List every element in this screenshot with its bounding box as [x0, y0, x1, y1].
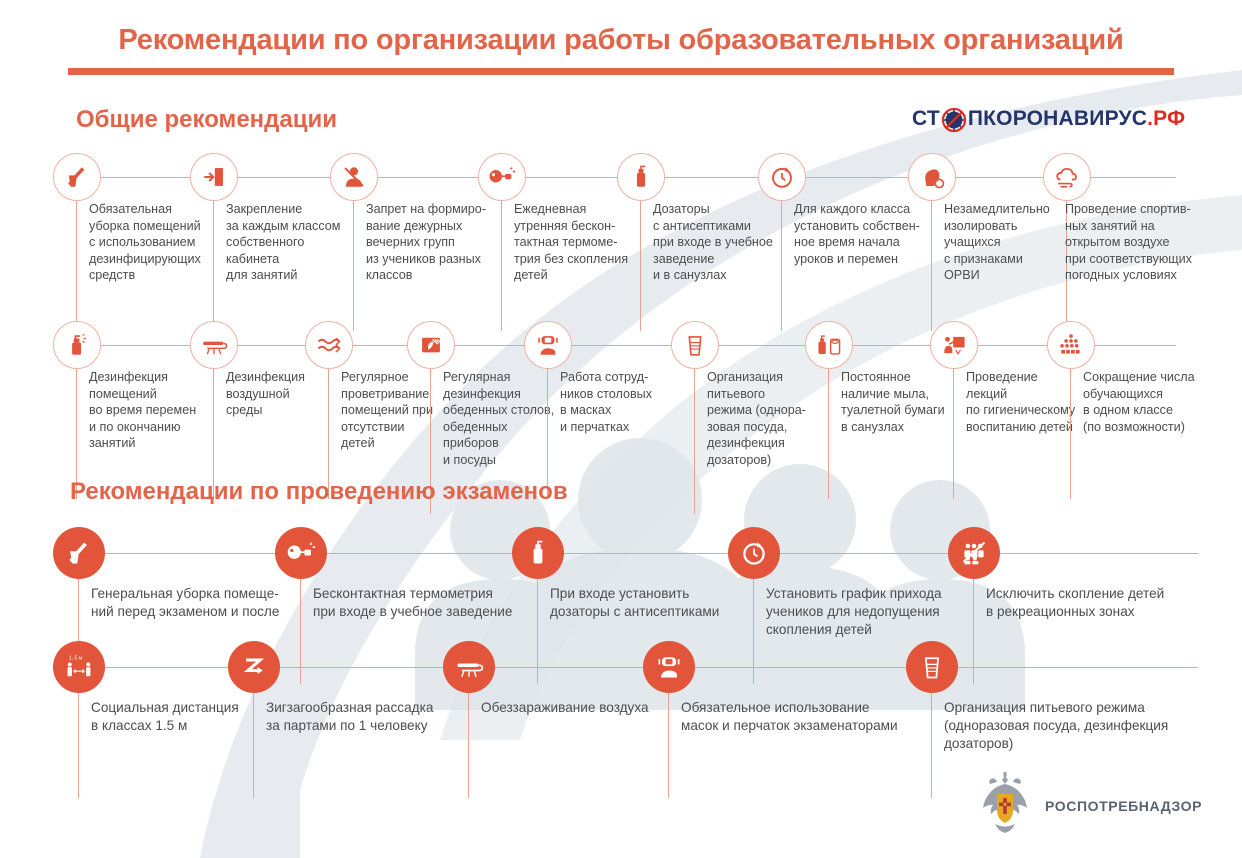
logo-text-part1: СТ: [912, 107, 940, 131]
stop-coronavirus-logo[interactable]: СТ ПКОРОНАВИРУС .РФ: [912, 106, 1185, 132]
infographic-page: Рекомендации по организации работы образ…: [0, 0, 1242, 858]
item-connector: [537, 579, 538, 684]
thermometry-icon: [478, 153, 526, 201]
list-item-label: Организация питьевого режима (однора- зо…: [707, 369, 857, 469]
mop-bucket-icon: [53, 527, 105, 579]
item-connector: [781, 201, 782, 331]
list-item-label: Обязательное использование масок и перча…: [681, 699, 931, 735]
rospotrebnadzor-label: РОСПОТРЕБНАДЗОР: [1045, 798, 1202, 814]
item-connector: [828, 369, 829, 499]
item-connector: [640, 201, 641, 331]
isolate-person-icon: [908, 153, 956, 201]
airflow-icon: [305, 321, 353, 369]
list-item-label: Генеральная уборка помеще- ний перед экз…: [91, 585, 321, 621]
item-connector: [253, 693, 254, 798]
item-connector: [76, 201, 77, 331]
list-item-label: Для каждого класса установить собствен- …: [794, 201, 959, 267]
drinking-cup-icon: [671, 321, 719, 369]
double-headed-eagle-emblem: [975, 770, 1035, 842]
air-disinfection-lamp-icon: [443, 641, 495, 693]
mop-bucket-icon: [53, 153, 101, 201]
section-heading-exams: Рекомендации по проведению экзаменов: [70, 478, 568, 506]
list-item-label: При входе установить дозаторы с антисепт…: [550, 585, 765, 621]
mask-gloves-staff-icon: [643, 641, 695, 693]
sanitizer-dispenser-icon: [512, 527, 564, 579]
item-connector: [973, 579, 974, 684]
list-item-label: Бесконтактная термометрия при входе в уч…: [313, 585, 548, 621]
item-connector: [953, 369, 954, 499]
logo-text-part2: ПКОРОНАВИРУС: [968, 107, 1147, 131]
timeline-rule-row3: [78, 553, 1198, 554]
fresh-air-cloud-icon: [1043, 153, 1091, 201]
item-connector: [468, 693, 469, 798]
item-connector: [501, 201, 502, 331]
item-connector: [931, 201, 932, 331]
list-item-label: Работа сотруд- ников столовых в масках и…: [560, 369, 705, 435]
item-connector: [668, 693, 669, 798]
item-connector: [753, 579, 754, 684]
item-connector: [213, 201, 214, 331]
clock-schedule-icon: [728, 527, 780, 579]
sanitizer-dispenser-icon: [617, 153, 665, 201]
item-connector: [694, 369, 695, 514]
social-distance-icon: 1, 5 м: [53, 641, 105, 693]
page-title: Рекомендации по организации работы образ…: [0, 24, 1242, 57]
list-item-label: Обеззараживание воздуха: [481, 699, 681, 717]
list-item-label: Исключить скопление детей в рекреационны…: [986, 585, 1201, 621]
logo-text-part3: .РФ: [1147, 107, 1185, 131]
list-item-label: Сокращение числа обучающихся в одном кла…: [1083, 369, 1242, 435]
item-connector: [353, 201, 354, 331]
lecture-board-icon: [930, 321, 978, 369]
rospotrebnadzor-logo: РОСПОТРЕБНАДЗОР: [975, 770, 1202, 842]
virus-stop-icon: [941, 107, 967, 133]
list-item-label: Организация питьевого режима (одноразова…: [944, 699, 1204, 753]
item-connector: [300, 579, 301, 684]
list-item-label: Дезинфекция помещений во время перемен и…: [89, 369, 239, 452]
door-entry-icon: [190, 153, 238, 201]
soap-toilet-paper-icon: [805, 321, 853, 369]
section-heading-general: Общие рекомендации: [76, 106, 337, 134]
no-person-icon: [330, 153, 378, 201]
air-disinfection-lamp-icon: [190, 321, 238, 369]
wipe-table-icon: [407, 321, 455, 369]
drinking-cup-icon: [906, 641, 958, 693]
reduce-class-size-icon: [1047, 321, 1095, 369]
zigzag-seating-icon: [228, 641, 280, 693]
list-item-label: Зигзагообразная рассадка за партами по 1…: [266, 699, 496, 735]
list-item-label: Ежедневная утренняя бескон- тактная терм…: [514, 201, 674, 284]
timeline-rule-row2: [78, 345, 1176, 346]
item-connector: [78, 693, 79, 798]
list-item-label: Проведение спортив- ных занятий на откры…: [1065, 201, 1230, 284]
item-connector: [1070, 369, 1071, 499]
svg-text:1, 5 м: 1, 5 м: [69, 655, 83, 661]
thermometry-icon: [275, 527, 327, 579]
spray-bottle-icon: [53, 321, 101, 369]
item-connector: [931, 693, 932, 798]
title-divider: [68, 68, 1174, 75]
clock-schedule-icon: [758, 153, 806, 201]
list-item-label: Обязательная уборка помещений с использо…: [89, 201, 239, 284]
list-item-label: Установить график прихода учеников для н…: [766, 585, 991, 639]
list-item-label: Дозаторы с антисептиками при входе в уче…: [653, 201, 813, 284]
list-item-label: Запрет на формиро- вание дежурных вечерн…: [366, 201, 526, 284]
no-crowd-icon: [948, 527, 1000, 579]
mask-gloves-staff-icon: [524, 321, 572, 369]
